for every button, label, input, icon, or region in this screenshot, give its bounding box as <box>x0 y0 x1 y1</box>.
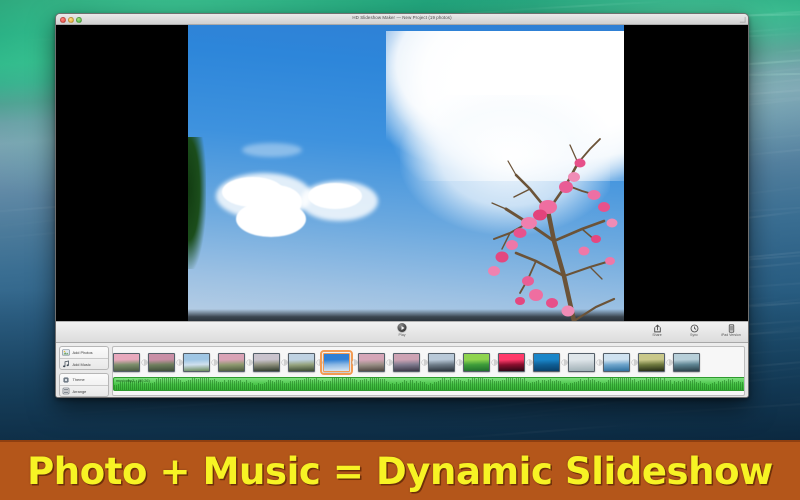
timeline-thumbnail[interactable] <box>673 353 700 372</box>
timeline-thumbnail[interactable] <box>113 353 140 372</box>
play-button-label: Play <box>399 333 406 337</box>
timeline-thumbnail[interactable] <box>533 353 560 372</box>
sidebar-label-add-music: Add Music <box>73 362 91 367</box>
timeline-thumbnail[interactable] <box>428 353 455 372</box>
transition-icon[interactable] <box>245 356 253 368</box>
theme-wheel-icon <box>62 376 70 384</box>
transition-icon[interactable] <box>595 356 603 368</box>
timeline-thumbnail[interactable] <box>218 353 245 372</box>
resize-grip-icon[interactable] <box>739 16 746 23</box>
timeline-thumbnail[interactable] <box>253 353 280 372</box>
transition-icon[interactable] <box>280 356 288 368</box>
promo-banner: Photo + Music = Dynamic Slideshow <box>0 440 800 500</box>
transition-icon[interactable] <box>210 356 218 368</box>
timeline-thumbnail[interactable] <box>498 353 525 372</box>
cloud-mid-b <box>308 183 362 209</box>
timeline-thumbnail[interactable] <box>463 353 490 372</box>
timeline-photo-strip[interactable] <box>113 348 700 376</box>
sidebar-label-add-photos: Add Photos <box>73 350 93 355</box>
share-button[interactable]: Share <box>644 323 670 337</box>
playback-toolbar: Play Share <box>56 321 748 343</box>
toolbar-right-group: Share Sync iPad Versio <box>644 323 744 337</box>
share-export-icon <box>653 323 662 333</box>
sidebar-item-theme[interactable]: Theme <box>60 374 108 385</box>
sidebar-label-theme: Theme <box>73 377 85 382</box>
transition-icon[interactable] <box>420 356 428 368</box>
sidebar-item-arrange[interactable]: Arrange <box>60 385 108 396</box>
sync-button-label: Sync <box>690 333 698 337</box>
sync-clock-icon <box>690 323 699 333</box>
play-icon <box>398 323 407 332</box>
transition-icon[interactable] <box>385 356 393 368</box>
transition-icon[interactable] <box>560 356 568 368</box>
photo-icon <box>62 349 70 357</box>
timeline-thumbnail[interactable] <box>568 353 595 372</box>
media-buttons-group: Add Photos Add Music <box>59 346 109 370</box>
preview-photo <box>188 25 624 321</box>
sync-button[interactable]: Sync <box>681 323 707 337</box>
left-tree-foliage <box>188 137 206 269</box>
transition-icon[interactable] <box>350 356 358 368</box>
timeline-thumbnail[interactable] <box>148 353 175 372</box>
transition-icon[interactable] <box>490 356 498 368</box>
sidebar-item-add-photos[interactable]: Add Photos <box>60 347 108 358</box>
timeline-sidebar: Add Photos Add Music <box>59 346 109 398</box>
transition-icon[interactable] <box>455 356 463 368</box>
transition-icon[interactable] <box>525 356 533 368</box>
transition-icon[interactable] <box>315 356 323 368</box>
transition-icon[interactable] <box>175 356 183 368</box>
timeline-panel: Add Photos Add Music <box>56 343 748 398</box>
ipad-version-button[interactable]: iPad Version <box>718 323 744 337</box>
page-title: HD Slideshow Maker — New Project (19 pho… <box>56 15 748 20</box>
audio-waveform <box>114 378 745 390</box>
sidebar-item-add-music[interactable]: Add Music <box>60 358 108 369</box>
audio-clip-label: music.mp3 - (00:26) <box>116 379 150 383</box>
promo-banner-text: Photo + Music = Dynamic Slideshow <box>27 450 773 493</box>
timeline-thumbnail[interactable] <box>358 353 385 372</box>
timeline-thumbnail[interactable] <box>288 353 315 372</box>
timeline-audio-clip[interactable]: music.mp3 - (00:26) <box>113 377 745 391</box>
arrange-list-icon <box>62 387 70 395</box>
transition-icon[interactable] <box>630 356 638 368</box>
cloud-wispy <box>242 143 302 157</box>
timeline-thumbnail[interactable] <box>393 353 420 372</box>
timeline-track-area[interactable]: music.mp3 - (00:26) <box>112 346 745 396</box>
blossom-tree-icon <box>424 111 624 321</box>
play-button[interactable]: Play <box>398 323 407 337</box>
transition-icon[interactable] <box>140 356 148 368</box>
music-note-icon <box>62 360 70 368</box>
window-titlebar[interactable]: HD Slideshow Maker — New Project (19 pho… <box>56 14 748 25</box>
timeline-thumbnail[interactable] <box>638 353 665 372</box>
timeline-thumbnail[interactable] <box>323 353 350 372</box>
sidebar-label-arrange: Arrange <box>73 389 87 394</box>
ipad-version-button-label: iPad Version <box>721 333 741 337</box>
share-button-label: Share <box>652 333 661 337</box>
preview-canvas[interactable] <box>56 25 748 321</box>
transition-icon[interactable] <box>665 356 673 368</box>
ipad-device-icon <box>727 323 736 333</box>
app-window: HD Slideshow Maker — New Project (19 pho… <box>55 13 749 398</box>
editing-buttons-group: Theme Arrange <box>59 373 109 397</box>
cloud-left-d <box>236 201 306 237</box>
timeline-thumbnail[interactable] <box>603 353 630 372</box>
timeline-thumbnail[interactable] <box>183 353 210 372</box>
